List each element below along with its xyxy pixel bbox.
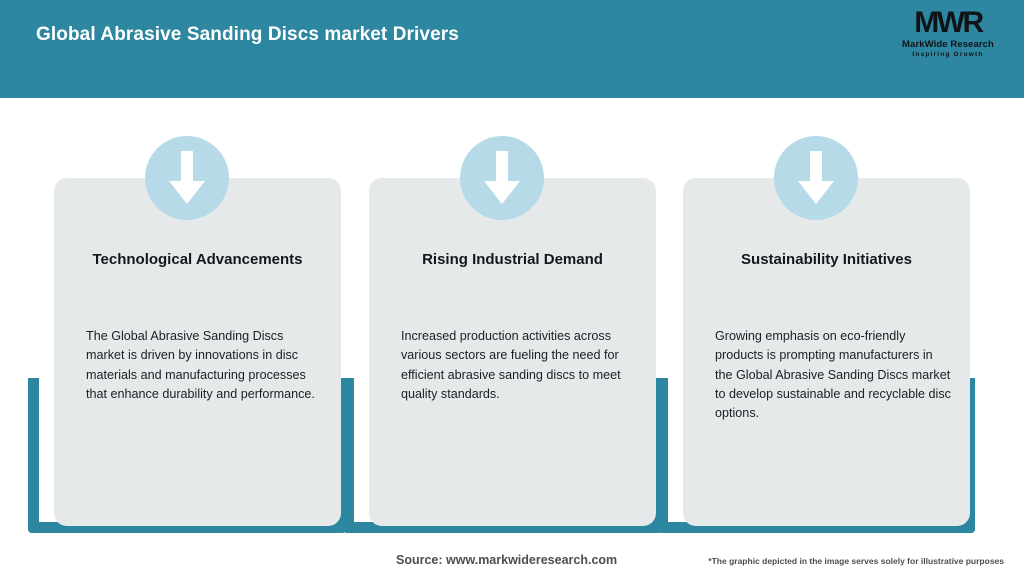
brand-logo: MWR MarkWide Research Inspiring Growth — [890, 8, 1006, 70]
mwr-logo-icon: MWR — [890, 8, 1006, 38]
arrow-down-icon — [145, 136, 229, 220]
card-body-text: Increased production activities across v… — [401, 327, 639, 404]
driver-card-2: Rising Industrial Demand Increased produ… — [343, 98, 661, 538]
source-label: Source: www.markwideresearch.com — [396, 553, 617, 567]
card-title: Rising Industrial Demand — [369, 251, 656, 268]
driver-card-3: Sustainability Initiatives Growing empha… — [657, 98, 975, 538]
card-title: Sustainability Initiatives — [683, 251, 970, 268]
card-body-text: Growing emphasis on eco-friendly product… — [715, 327, 953, 423]
card-body-text: The Global Abrasive Sanding Discs market… — [86, 327, 324, 404]
page-title: Global Abrasive Sanding Discs market Dri… — [36, 24, 459, 46]
card-title: Technological Advancements — [54, 251, 341, 268]
drivers-card-grid: Technological Advancements The Global Ab… — [0, 98, 1024, 538]
brand-tagline: Inspiring Growth — [890, 51, 1006, 58]
arrow-down-icon — [460, 136, 544, 220]
disclaimer-label: *The graphic depicted in the image serve… — [708, 556, 1004, 566]
header-bar: Global Abrasive Sanding Discs market Dri… — [0, 0, 1024, 98]
brand-name: MarkWide Research — [890, 39, 1006, 50]
arrow-down-icon — [774, 136, 858, 220]
driver-card-1: Technological Advancements The Global Ab… — [28, 98, 346, 538]
